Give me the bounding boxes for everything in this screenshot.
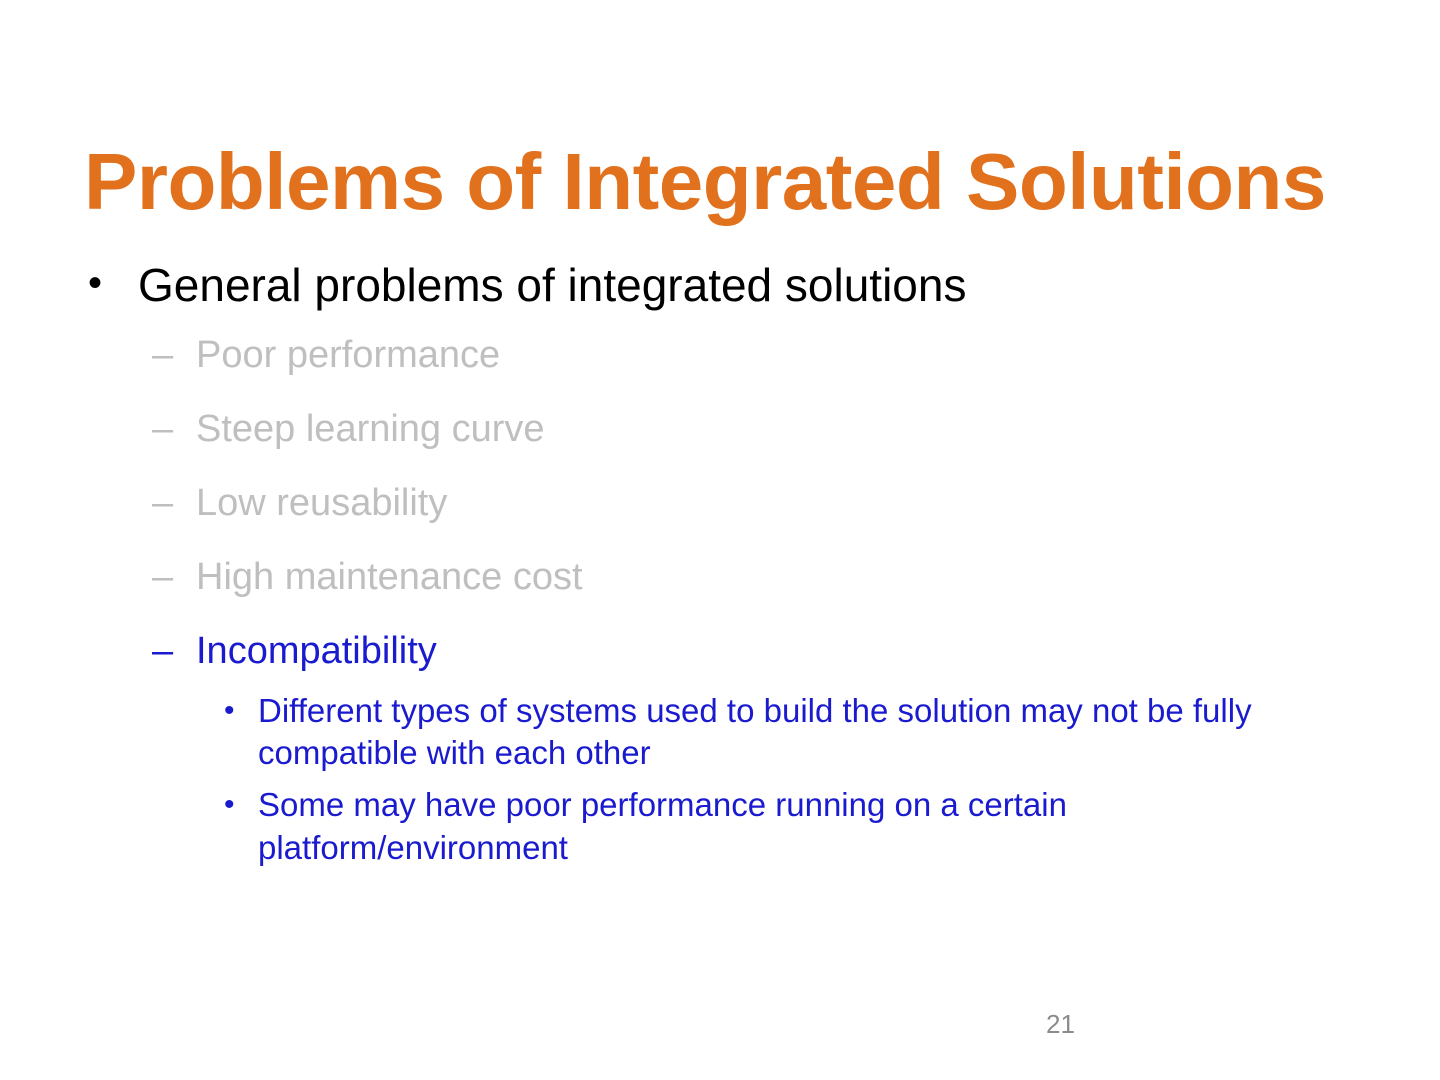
page-number: 21: [1046, 1011, 1075, 1037]
sub-bullet-marker-icon: •: [224, 784, 235, 825]
dash-marker-icon: –: [152, 410, 173, 448]
sub-bullet-marker-icon: •: [224, 690, 235, 731]
bullet-level2-label: Low reusability: [196, 482, 447, 524]
bullet-level2-label: High maintenance cost: [196, 556, 583, 598]
slide-body: • General problems of integrated solutio…: [0, 262, 1440, 879]
slide: Problems of Integrated Solutions • Gener…: [0, 0, 1440, 1080]
bullet-level1-label: General problems of integrated solutions: [138, 259, 966, 311]
bullet-level1: • General problems of integrated solutio…: [0, 262, 1440, 308]
bullet-level3-label: Different types of systems used to build…: [258, 692, 1252, 771]
bullet-marker-icon: •: [88, 262, 102, 305]
dash-marker-icon: –: [152, 336, 173, 374]
page-title: Problems of Integrated Solutions: [84, 142, 1374, 222]
bullet-level3-poor-performance-platform: • Some may have poor performance running…: [0, 784, 1440, 868]
bullet-level2-low-reusability: – Low reusability: [0, 484, 1440, 522]
bullet-level3-label: Some may have poor performance running o…: [258, 786, 1067, 865]
bullet-level2-label: Poor performance: [196, 334, 500, 376]
dash-marker-icon: –: [152, 632, 173, 670]
dash-marker-icon: –: [152, 558, 173, 596]
bullet-level2-steep-learning-curve: – Steep learning curve: [0, 410, 1440, 448]
bullet-level2-label: Incompatibility: [196, 630, 437, 672]
bullet-level2-incompatibility: – Incompatibility: [0, 632, 1440, 670]
dash-marker-icon: –: [152, 484, 173, 522]
bullet-level3-different-types: • Different types of systems used to bui…: [0, 690, 1440, 774]
bullet-level2-label: Steep learning curve: [196, 408, 545, 450]
bullet-level2-poor-performance: – Poor performance: [0, 336, 1440, 374]
bullet-level2-high-maintenance-cost: – High maintenance cost: [0, 558, 1440, 596]
